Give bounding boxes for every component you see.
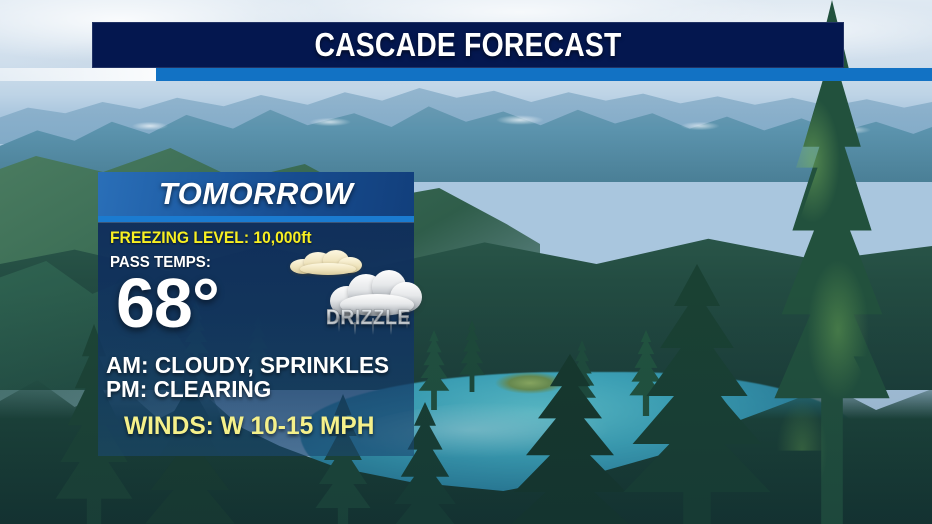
forecast-day-label: TOMORROW [159, 176, 354, 212]
header-accent-rule [98, 216, 414, 222]
title-banner: CASCADE FORECAST [92, 22, 844, 68]
forecast-day-header: TOMORROW [98, 172, 414, 216]
banner-underbar-white [0, 68, 156, 81]
pass-temperature-value: 68° [116, 268, 219, 338]
freezing-level-text: FREEZING LEVEL: 10,000ft [110, 228, 379, 248]
forecast-panel: TOMORROW FREEZING LEVEL: 10,000ft PASS T… [98, 172, 414, 456]
page-title: CASCADE FORECAST [145, 22, 792, 68]
banner-underbar-blue [156, 68, 932, 81]
weather-forecast-graphic: CASCADE FORECAST TOMORROW FREEZING LEVEL… [0, 0, 932, 524]
pm-forecast-text: PM: CLEARING [106, 376, 271, 403]
winds-text: WINDS: W 10-15 MPH [124, 412, 374, 441]
am-forecast-text: AM: CLOUDY, SPRINKLES [106, 352, 389, 379]
conifer-tree [410, 330, 458, 410]
